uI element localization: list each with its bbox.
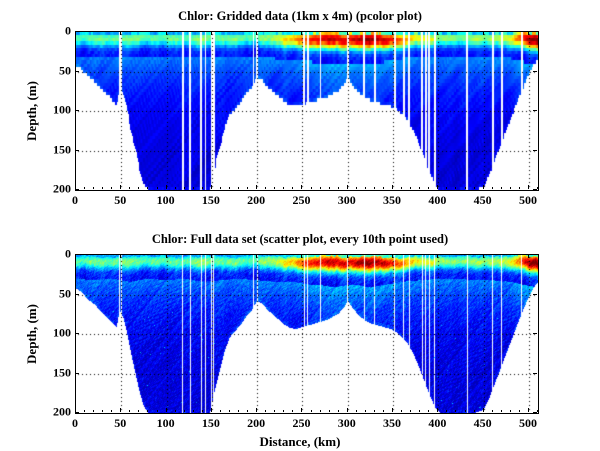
x-tick-label: 200 <box>247 193 265 208</box>
x-tick-minor <box>465 187 466 189</box>
x-tick-minor <box>193 410 194 412</box>
chlorophyll-section-scatter <box>76 255 538 413</box>
y-tick <box>75 294 79 295</box>
chlorophyll-section-gridded <box>76 32 538 190</box>
x-tick-minor <box>492 410 493 412</box>
x-tick-minor <box>338 410 339 412</box>
x-tick <box>347 31 348 35</box>
panel-scatter-title: Chlor: Full data set (scatter plot, ever… <box>0 232 600 247</box>
x-tick <box>301 408 302 412</box>
y-tick-label: 0 <box>43 247 71 262</box>
x-tick-minor <box>111 410 112 412</box>
x-tick-minor <box>320 187 321 189</box>
x-tick-minor <box>93 187 94 189</box>
x-tick-minor <box>111 187 112 189</box>
y-tick-label: 200 <box>43 405 71 420</box>
x-tick-minor <box>184 187 185 189</box>
x-tick-minor <box>283 187 284 189</box>
x-tick-label: 150 <box>202 416 220 431</box>
x-tick-label: 100 <box>157 416 175 431</box>
x-tick-minor <box>157 410 158 412</box>
x-tick-minor <box>329 410 330 412</box>
x-tick-label: 100 <box>157 193 175 208</box>
x-tick-label: 350 <box>383 193 401 208</box>
y-tick <box>75 412 79 413</box>
x-tick <box>120 254 121 258</box>
x-tick <box>256 185 257 189</box>
x-tick <box>528 254 529 258</box>
x-tick-minor <box>410 187 411 189</box>
x-tick-minor <box>147 187 148 189</box>
x-tick-minor <box>455 410 456 412</box>
x-tick-minor <box>365 410 366 412</box>
x-tick-minor <box>446 187 447 189</box>
x-tick <box>392 31 393 35</box>
y-axis-title-scatter: Depth, (m) <box>24 274 40 394</box>
x-tick-minor <box>129 410 130 412</box>
x-tick-minor <box>501 187 502 189</box>
y-tick <box>533 150 537 151</box>
x-tick-minor <box>138 410 139 412</box>
x-tick-minor <box>175 410 176 412</box>
x-tick-minor <box>102 410 103 412</box>
x-tick-minor <box>202 187 203 189</box>
y-tick <box>75 254 79 255</box>
y-tick-label: 50 <box>43 286 71 301</box>
y-tick <box>533 373 537 374</box>
x-tick-label: 50 <box>114 416 126 431</box>
x-tick <box>528 185 529 189</box>
y-tick-label: 200 <box>43 182 71 197</box>
x-tick-label: 200 <box>247 416 265 431</box>
x-tick-minor <box>84 410 85 412</box>
x-tick-minor <box>519 187 520 189</box>
x-tick <box>392 254 393 258</box>
x-tick-label: 300 <box>338 193 356 208</box>
x-tick <box>211 254 212 258</box>
x-tick <box>211 31 212 35</box>
x-tick-minor <box>93 410 94 412</box>
x-tick-label: 250 <box>292 416 310 431</box>
x-tick-minor <box>138 187 139 189</box>
panel-gridded: Chlor: Gridded data (1km x 4m) (pcolor p… <box>0 0 600 215</box>
x-tick <box>211 185 212 189</box>
x-tick <box>120 185 121 189</box>
x-tick <box>166 254 167 258</box>
x-tick-minor <box>537 410 538 412</box>
y-tick-label: 150 <box>43 142 71 157</box>
x-tick <box>483 254 484 258</box>
matlab-figure: Chlor: Gridded data (1km x 4m) (pcolor p… <box>0 0 600 451</box>
x-tick-minor <box>419 187 420 189</box>
x-tick <box>256 254 257 258</box>
x-tick-minor <box>510 410 511 412</box>
y-tick <box>75 31 79 32</box>
x-tick-minor <box>492 187 493 189</box>
y-tick <box>533 31 537 32</box>
y-tick <box>533 412 537 413</box>
axes-gridded <box>75 31 539 191</box>
x-tick-minor <box>220 187 221 189</box>
x-tick-label: 450 <box>474 416 492 431</box>
y-tick-label: 50 <box>43 63 71 78</box>
x-tick-minor <box>474 410 475 412</box>
x-tick-minor <box>374 410 375 412</box>
y-tick <box>75 71 79 72</box>
x-tick-minor <box>84 187 85 189</box>
x-tick-minor <box>292 187 293 189</box>
x-tick-label: 500 <box>519 416 537 431</box>
y-tick <box>533 333 537 334</box>
x-tick <box>483 31 484 35</box>
axes-scatter <box>75 254 539 414</box>
x-tick <box>347 185 348 189</box>
x-tick <box>301 185 302 189</box>
x-tick-minor <box>265 410 266 412</box>
y-axis-title-gridded: Depth, (m) <box>24 51 40 171</box>
x-tick-label: 300 <box>338 416 356 431</box>
x-tick <box>347 408 348 412</box>
x-tick <box>483 408 484 412</box>
x-tick <box>166 31 167 35</box>
x-tick-label: 500 <box>519 193 537 208</box>
x-tick <box>437 408 438 412</box>
x-tick-minor <box>428 410 429 412</box>
y-tick <box>533 189 537 190</box>
y-tick-label: 150 <box>43 365 71 380</box>
x-tick-label: 350 <box>383 416 401 431</box>
x-tick-minor <box>537 187 538 189</box>
x-tick-minor <box>274 410 275 412</box>
x-tick-label: 0 <box>72 416 78 431</box>
y-tick-label: 100 <box>43 103 71 118</box>
x-tick-minor <box>238 410 239 412</box>
x-tick-minor <box>320 410 321 412</box>
x-tick-minor <box>311 187 312 189</box>
x-tick <box>483 185 484 189</box>
y-tick-label: 100 <box>43 326 71 341</box>
panel-scatter: Chlor: Full data set (scatter plot, ever… <box>0 225 600 451</box>
y-tick <box>75 110 79 111</box>
y-tick <box>75 333 79 334</box>
x-tick-minor <box>419 410 420 412</box>
x-tick-minor <box>455 187 456 189</box>
y-tick <box>75 150 79 151</box>
x-tick <box>211 408 212 412</box>
y-tick <box>533 294 537 295</box>
x-tick-minor <box>157 187 158 189</box>
x-tick-minor <box>229 410 230 412</box>
x-tick-minor <box>501 410 502 412</box>
x-tick <box>120 31 121 35</box>
x-tick <box>166 408 167 412</box>
x-tick-minor <box>519 410 520 412</box>
panel-gridded-title: Chlor: Gridded data (1km x 4m) (pcolor p… <box>0 9 600 24</box>
x-tick-minor <box>356 410 357 412</box>
x-tick-minor <box>410 410 411 412</box>
x-tick-label: 150 <box>202 193 220 208</box>
x-tick-minor <box>374 187 375 189</box>
x-tick-minor <box>428 187 429 189</box>
x-tick <box>301 31 302 35</box>
x-tick-label: 450 <box>474 193 492 208</box>
x-tick-minor <box>129 187 130 189</box>
x-tick <box>437 185 438 189</box>
x-tick-minor <box>175 187 176 189</box>
x-tick-label: 50 <box>114 193 126 208</box>
x-tick-minor <box>311 410 312 412</box>
x-tick <box>301 254 302 258</box>
x-tick-minor <box>401 410 402 412</box>
x-tick-label: 0 <box>72 193 78 208</box>
x-tick-minor <box>401 187 402 189</box>
x-tick-minor <box>193 187 194 189</box>
y-tick <box>533 110 537 111</box>
x-tick-minor <box>356 187 357 189</box>
x-tick-label: 250 <box>292 193 310 208</box>
y-tick <box>75 189 79 190</box>
x-tick <box>256 408 257 412</box>
x-tick-minor <box>274 187 275 189</box>
x-tick-minor <box>238 187 239 189</box>
x-tick-minor <box>365 187 366 189</box>
x-tick-minor <box>474 187 475 189</box>
x-tick-minor <box>265 187 266 189</box>
x-tick-minor <box>446 410 447 412</box>
x-tick-minor <box>292 410 293 412</box>
x-tick <box>166 185 167 189</box>
x-tick <box>392 185 393 189</box>
x-tick-minor <box>283 410 284 412</box>
y-tick <box>533 254 537 255</box>
x-tick-minor <box>229 187 230 189</box>
x-tick <box>437 254 438 258</box>
x-tick-minor <box>202 410 203 412</box>
x-tick <box>347 254 348 258</box>
x-tick-minor <box>383 410 384 412</box>
x-tick-minor <box>247 410 248 412</box>
x-tick-minor <box>102 187 103 189</box>
x-tick-minor <box>383 187 384 189</box>
x-tick <box>392 408 393 412</box>
x-tick-minor <box>247 187 248 189</box>
x-tick-minor <box>184 410 185 412</box>
x-tick <box>437 31 438 35</box>
x-tick-minor <box>338 187 339 189</box>
x-tick-minor <box>329 187 330 189</box>
x-tick <box>120 408 121 412</box>
x-tick-minor <box>465 410 466 412</box>
x-tick-label: 400 <box>428 416 446 431</box>
x-tick-minor <box>220 410 221 412</box>
x-tick <box>528 31 529 35</box>
x-tick <box>528 408 529 412</box>
x-tick <box>256 31 257 35</box>
x-tick-minor <box>510 187 511 189</box>
x-axis-title: Distance, (km) <box>0 434 600 450</box>
y-tick-label: 0 <box>43 24 71 39</box>
x-tick-label: 400 <box>428 193 446 208</box>
y-tick <box>533 71 537 72</box>
y-tick <box>75 373 79 374</box>
x-tick-minor <box>147 410 148 412</box>
